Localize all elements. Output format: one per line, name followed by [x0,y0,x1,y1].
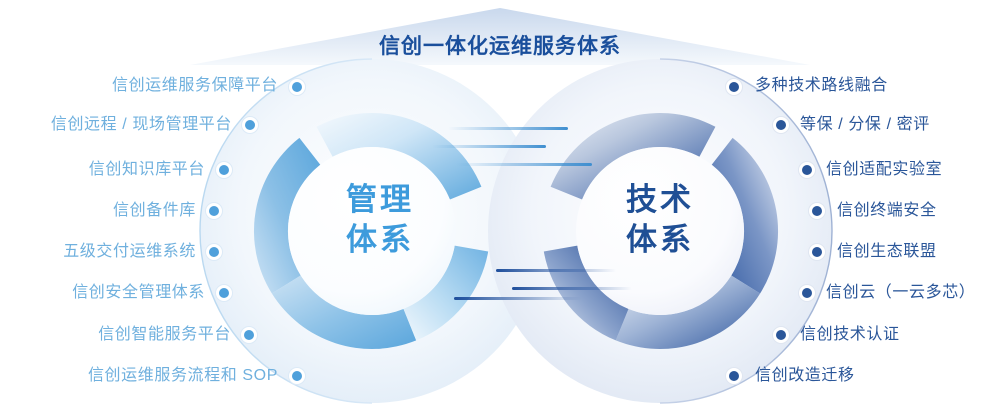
left-connector-dot [219,165,229,175]
right-connector-dot [812,206,822,216]
page-title: 信创一体化运维服务体系 [0,30,1000,60]
left-ring-label-line1: 管理 [300,180,460,220]
left-item-label: 信创远程 / 现场管理平台 [51,117,232,133]
left-connector-dot [292,371,302,381]
right-item-label: 多种技术路线融合 [755,78,888,94]
right-item-label: 信创技术认证 [800,327,900,343]
right-item-label: 信创终端安全 [837,203,937,219]
right-ring-label-line2: 体系 [580,220,740,260]
left-item-label: 五级交付运维系统 [63,244,196,260]
right-connector-dot [776,120,786,130]
right-connector-dot [802,165,812,175]
left-connector-dot [245,120,255,130]
left-item-label: 信创安全管理体系 [72,285,205,301]
right-item-label: 信创改造迁移 [755,368,855,384]
right-item-label: 信创适配实验室 [826,162,942,178]
right-connector-dot [776,330,786,340]
right-ring-label-line1: 技术 [580,180,740,220]
left-item-label: 信创运维服务流程和 SOP [88,368,278,384]
infographic-canvas: 信创一体化运维服务体系 管理 体系 技术 体系 信创运维服务保障平台信创远程 /… [0,0,1000,408]
left-item-label: 信创运维服务保障平台 [112,78,278,94]
right-item-label: 信创生态联盟 [837,244,937,260]
left-item-label: 信创备件库 [113,203,196,219]
right-item-label: 等保 / 分保 / 密评 [800,117,930,133]
right-item-label: 信创云（一云多芯） [826,285,975,301]
right-connector-dot [812,247,822,257]
right-connector-dot [729,82,739,92]
left-connector-dot [292,82,302,92]
left-ring-label: 管理 体系 [300,180,460,261]
left-item-label: 信创知识库平台 [89,162,205,178]
left-ring-label-line2: 体系 [300,220,460,260]
right-ring-label: 技术 体系 [580,180,740,261]
right-connector-dot [729,371,739,381]
right-connector-dot [802,288,812,298]
left-item-label: 信创智能服务平台 [98,327,231,343]
left-connector-dot [209,206,219,216]
left-connector-dot [219,288,229,298]
left-connector-dot [209,247,219,257]
left-connector-dot [244,330,254,340]
